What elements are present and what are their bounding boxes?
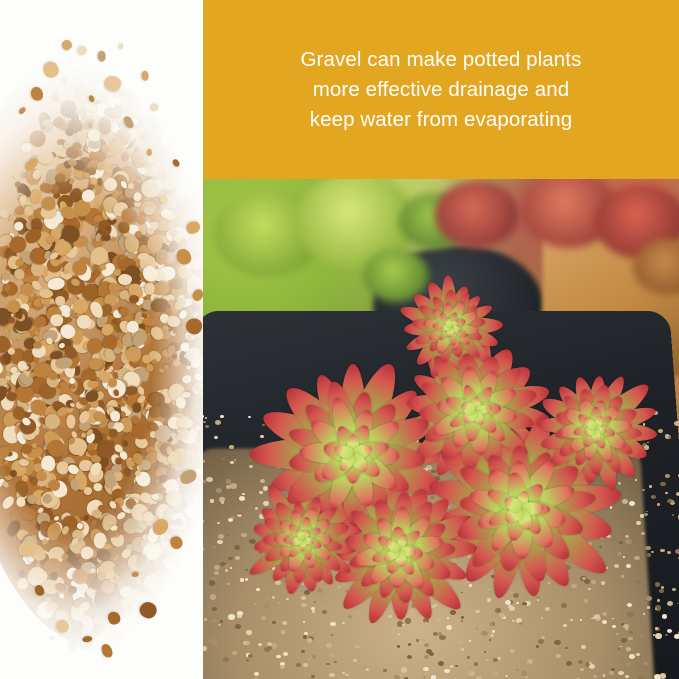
gravel-grain: [536, 645, 539, 648]
gravel-grain: [229, 445, 234, 449]
gravel-grain: [602, 612, 607, 616]
gravel-grain: [423, 640, 426, 642]
gravel-grain: [258, 643, 262, 646]
gravel-grain: [484, 651, 487, 653]
gravel-grain: [446, 625, 452, 630]
gravel-pebble: [123, 441, 128, 447]
gravel-grain: [203, 646, 207, 651]
gravel-grain: [468, 671, 475, 676]
gravel-grain: [218, 624, 221, 626]
gravel-grain: [303, 635, 307, 638]
gravel-grain: [545, 607, 550, 611]
gravel-grain: [475, 610, 479, 613]
gravel-grain: [328, 663, 330, 665]
gravel-grain: [237, 615, 242, 619]
background-succulent: [435, 181, 519, 248]
gravel-grain: [401, 667, 408, 672]
gravel-grain: [647, 606, 650, 608]
gravel-pebble: [64, 268, 69, 273]
gravel-grain: [283, 652, 288, 656]
caption-banner: Gravel can make potted plants more effec…: [203, 0, 679, 179]
gravel-pebble: [50, 314, 63, 326]
gravel-pebble: [49, 636, 55, 641]
gravel-grain: [643, 613, 645, 615]
gravel-grain: [303, 663, 308, 667]
gravel-grain: [353, 659, 357, 662]
gravel-grain: [519, 622, 523, 625]
stray-gravel-pebble: [97, 51, 106, 62]
gravel-grain: [222, 458, 225, 460]
gravel-grain: [589, 664, 595, 669]
gravel-grain: [459, 641, 463, 644]
gravel-grain: [365, 668, 369, 671]
gravel-grain: [609, 671, 614, 675]
gravel-grain: [226, 485, 231, 489]
gravel-grain: [307, 638, 312, 642]
gravel-grain: [212, 607, 217, 611]
gravel-grain: [657, 599, 660, 602]
gravel-grain: [651, 496, 654, 498]
gravel-grain: [214, 565, 220, 570]
gravel-grain: [627, 612, 633, 617]
gravel-grain: [220, 620, 223, 622]
gravel-grain: [256, 588, 259, 591]
gravel-grain: [355, 645, 359, 648]
gravel-grain: [655, 582, 661, 587]
gravel-grain: [450, 610, 456, 615]
gravel-grain: [221, 501, 224, 504]
gravel-grain: [667, 551, 671, 554]
gravel-grain: [623, 624, 629, 629]
gravel-grain: [621, 638, 627, 643]
gravel-grain: [397, 645, 400, 648]
gravel-grain: [228, 557, 233, 561]
gravel-grain: [312, 655, 316, 659]
gravel-pebble: [87, 129, 100, 142]
gravel-grain: [499, 613, 505, 618]
gravel-grain: [330, 654, 335, 658]
gravel-grain: [491, 623, 494, 625]
gravel-pebble: [68, 377, 75, 384]
gravel-pebble: [196, 407, 203, 417]
gravel-pebble: [116, 647, 141, 672]
gravel-grain: [239, 484, 245, 489]
gravel-grain: [206, 477, 213, 482]
gravel-grain: [450, 665, 453, 668]
gravel-grain: [235, 556, 240, 560]
gravel-grain: [556, 654, 561, 658]
gravel-grain: [629, 631, 633, 634]
gravel-grain: [228, 614, 235, 619]
gravel-grain: [311, 675, 315, 678]
gravel-grain: [672, 588, 676, 591]
gravel-pebble: [108, 378, 117, 387]
gravel-grain: [245, 569, 248, 572]
gravel-grain: [224, 564, 230, 569]
gravel-grain: [312, 610, 315, 613]
gravel-grain: [635, 479, 638, 481]
gravel-pebble: [88, 122, 93, 128]
gravel-grain: [651, 551, 654, 553]
gravel-grain: [570, 619, 573, 621]
gravel-grain: [521, 671, 526, 675]
gravel-grain: [584, 599, 589, 603]
gravel-grain: [211, 639, 218, 645]
gravel-grain: [345, 674, 348, 677]
succulent-photo-panel: [203, 179, 679, 679]
gravel-grain: [636, 521, 642, 525]
gravel-grain: [485, 659, 488, 662]
gravel-grain: [304, 632, 307, 635]
gravel-grain: [431, 675, 437, 679]
gravel-grain: [216, 488, 222, 493]
gravel-grain: [235, 624, 240, 628]
gravel-grain: [641, 532, 645, 535]
gravel-grain: [439, 635, 446, 641]
gravel-grain: [516, 669, 519, 671]
gravel-grain: [438, 661, 444, 666]
gravel-grain: [226, 479, 231, 483]
gravel-grain: [423, 667, 429, 671]
gravel-grain: [655, 627, 658, 630]
gravel-grain: [660, 673, 667, 678]
gravel-grain: [541, 636, 545, 639]
gravel-grain: [655, 633, 662, 639]
gravel-grain: [612, 625, 616, 628]
gravel-grain: [665, 474, 670, 478]
gravel-photo-panel: [0, 0, 203, 679]
gravel-pebble: [59, 381, 65, 387]
gravel-pebble: [66, 414, 75, 428]
gravel-grain: [308, 658, 311, 661]
gravel-grain: [203, 415, 204, 418]
gravel-grain: [614, 564, 620, 568]
gravel-grain: [510, 649, 515, 653]
gravel-grain: [282, 621, 287, 625]
gravel-grain: [210, 499, 215, 503]
gravel-grain: [674, 421, 679, 426]
gravel-grain: [660, 549, 665, 553]
gravel-grain: [303, 621, 305, 623]
gravel-grain: [667, 601, 674, 606]
gravel-grain: [622, 499, 628, 504]
gravel-grain: [248, 654, 253, 658]
gravel-pebble: [29, 131, 45, 148]
gravel-grain: [261, 616, 266, 620]
gravel-pebble: [169, 227, 178, 236]
gravel-pebble: [172, 327, 177, 334]
gravel-grain: [618, 671, 624, 676]
gravel-grain: [618, 648, 621, 650]
gravel-grain: [640, 656, 642, 658]
gravel-grain: [330, 622, 336, 627]
gravel-grain: [461, 648, 464, 651]
gravel-grain: [424, 655, 429, 659]
gravel-grain: [481, 631, 488, 636]
gravel-grain: [217, 522, 220, 524]
gravel-grain: [495, 608, 501, 613]
gravel-pebble: [99, 117, 112, 134]
gravel-pebble: [33, 341, 42, 347]
gravel-pebble: [17, 569, 25, 577]
gravel-grain: [240, 578, 244, 582]
gravel-grain: [509, 606, 515, 611]
gravel-grain: [254, 672, 259, 676]
gravel-grain: [662, 614, 668, 619]
gravel-grain: [619, 541, 623, 544]
gravel-grain: [625, 675, 629, 678]
gravel-grain: [228, 518, 233, 522]
gravel-grain: [525, 676, 528, 678]
gravel-grain: [276, 655, 280, 659]
gravel-grain: [210, 594, 217, 600]
gravel-grain: [629, 654, 635, 659]
gravel-grain: [348, 615, 352, 618]
gravel-grain: [296, 663, 301, 667]
gravel-grain: [657, 503, 660, 505]
gravel-pebble: [61, 76, 66, 83]
gravel-grain: [219, 471, 222, 474]
gravel-grain: [603, 674, 606, 676]
gravel-grain: [671, 500, 674, 503]
gravel-grain: [264, 604, 270, 609]
gravel-grain: [394, 675, 400, 679]
gravel-grain: [645, 546, 651, 551]
gravel-pebble: [158, 616, 171, 634]
gravel-grain: [209, 580, 216, 586]
gravel-grain: [342, 672, 345, 674]
gravel-grain: [272, 596, 275, 599]
gravel-grain: [541, 617, 543, 619]
gravel-grain: [461, 620, 463, 622]
product-image: Gravel can make potted plants more effec…: [0, 0, 679, 679]
gravel-grain: [512, 620, 515, 622]
gravel-grain: [554, 640, 561, 646]
gravel-grain: [248, 416, 251, 418]
caption-text: Gravel can make potted plants more effec…: [287, 45, 596, 135]
gravel-grain: [561, 603, 567, 608]
gravel-grain: [322, 610, 327, 614]
gravel-pebble: [40, 182, 54, 192]
gravel-grain: [461, 616, 464, 618]
gravel-grain: [563, 624, 567, 627]
gravel-grain: [580, 619, 583, 621]
gravel-grain: [214, 571, 219, 575]
gravel-grain: [659, 589, 664, 593]
gravel-grain: [616, 503, 621, 507]
gravel-grain: [230, 483, 237, 488]
gravel-grain: [246, 630, 251, 634]
gravel-grain: [660, 482, 666, 486]
gravel-grain: [329, 673, 334, 677]
stray-gravel-pebble: [141, 71, 149, 81]
gravel-grain: [205, 417, 207, 419]
gravel-pebble: [14, 173, 19, 178]
gravel-grain: [588, 588, 591, 590]
gravel-grain: [636, 653, 640, 656]
gravel-grain: [218, 534, 224, 539]
